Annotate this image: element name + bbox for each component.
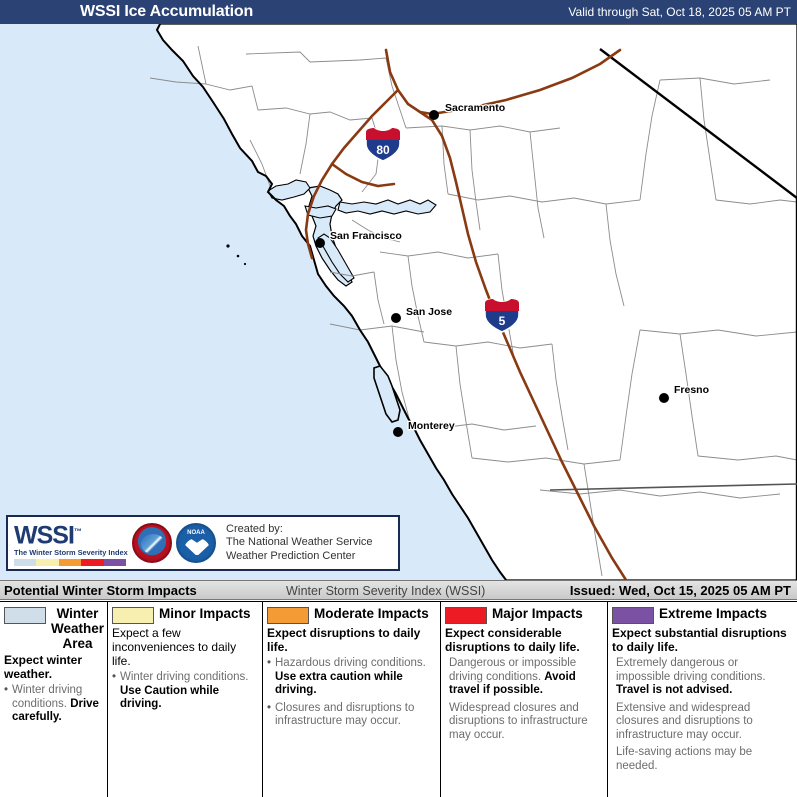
city-dot-sacramento [429,110,439,120]
credit-line-2: The National Weather Service [226,536,373,550]
legend-lead-text: Expect substantial disruptions to daily … [612,626,792,654]
legend-detail-item: Closures and disruptions to infrastructu… [267,702,435,729]
legend-title: Major Impacts [492,606,583,621]
credit-line-3: Weather Prediction Center [226,550,373,564]
page-title: WSSI Ice Accumulation [80,3,253,21]
legend-swatch [112,607,154,624]
legend-detail-item: Winter driving conditions. Drive careful… [4,684,102,725]
city-dot-san-jose [391,313,401,323]
legend-column-minor-impacts: Minor ImpactsExpect a few inconveniences… [108,602,263,797]
wssi-subtitle: The Winter Storm Severity Index [14,548,128,557]
city-label-sacramento: Sacramento [445,102,505,114]
valid-through-text: Valid through Sat, Oct 18, 2025 05 AM PT [568,5,791,19]
impacts-title-bar: Potential Winter Storm Impacts Winter St… [0,580,797,600]
city-dot-monterey [393,427,403,437]
legend-column-extreme-impacts: Extreme ImpactsExpect substantial disrup… [608,602,797,797]
noaa-seal-icon: NOAA [176,523,216,563]
impacts-heading: Potential Winter Storm Impacts [4,583,197,598]
legend-title: Moderate Impacts [314,606,429,621]
issued-text: Issued: Wed, Oct 15, 2025 05 AM PT [570,583,791,598]
legend-header: Extreme Impacts [612,606,792,624]
legend-detail-item: Extremely dangerous or impossible drivin… [612,657,792,698]
legend-header: Winter Weather Area [4,606,102,651]
legend-lead-text: Expect a few inconveniences to daily lif… [112,626,257,668]
shield-route-80: 80 [376,143,390,157]
legend-detail-list: Extremely dangerous or impossible drivin… [612,657,792,773]
legend-detail-item: Widespread closures and disruptions to i… [445,702,602,743]
legend-lead-text: Expect disruptions to daily life. [267,626,435,654]
legend-swatch [445,607,487,624]
city-label-fresno: Fresno [674,384,709,396]
legend-detail-list: Winter driving conditions. Drive careful… [4,684,102,725]
island-dot [244,263,246,265]
legend-title: Winter Weather Area [51,606,104,651]
shield-route-5: 5 [499,314,506,328]
legend-column-moderate-impacts: Moderate ImpactsExpect disruptions to da… [263,602,441,797]
legend-column-major-impacts: Major ImpactsExpect considerable disrupt… [441,602,608,797]
legend-swatch [267,607,309,624]
city-label-san-jose: San Jose [406,306,452,318]
wssi-wordmark: WSSI™ [14,520,128,547]
legend-column-winter-weather-area: Winter Weather AreaExpect winter weather… [0,602,108,797]
wssi-logo: WSSI™ The Winter Storm Severity Index [8,520,128,565]
wssi-color-ramp [14,559,126,566]
legend-detail-item: Life-saving actions may be needed. [612,746,792,773]
island-dot [226,244,229,247]
legend-detail-list: Hazardous driving conditions. Use extra … [267,657,435,729]
legend-detail-item: Dangerous or impossible driving conditio… [445,657,602,698]
legend-header: Minor Impacts [112,606,257,624]
impact-legend: Winter Weather AreaExpect winter weather… [0,601,797,797]
legend-detail-item: Winter driving conditions. Use Caution w… [112,671,257,712]
trademark-symbol: ™ [74,527,81,536]
legend-swatch [4,607,46,624]
city-label-monterey: Monterey [408,420,455,432]
legend-title: Minor Impacts [159,606,251,621]
wssi-logo-box: WSSI™ The Winter Storm Severity Index NO… [6,515,400,571]
legend-detail-list: Dangerous or impossible driving conditio… [445,657,602,742]
legend-header: Major Impacts [445,606,602,624]
city-dot-fresno [659,393,669,403]
city-label-san-francisco: San Francisco [330,230,402,242]
legend-detail-item: Extensive and widespread closures and di… [612,702,792,743]
wssi-ice-accumulation-page: WSSI Ice Accumulation Valid through Sat,… [0,0,797,797]
page-header: WSSI Ice Accumulation Valid through Sat,… [0,0,797,24]
legend-detail-item: Hazardous driving conditions. Use extra … [267,657,435,698]
city-dot-san-francisco [315,238,325,248]
legend-lead-text: Expect winter weather. [4,653,102,681]
legend-header: Moderate Impacts [267,606,435,624]
nws-seal-icon [132,523,172,563]
legend-detail-list: Winter driving conditions. Use Caution w… [112,671,257,712]
noaa-seal-text: NOAA [178,530,214,536]
legend-lead-text: Expect considerable disruptions to daily… [445,626,602,654]
island-dot [237,255,240,258]
credit-line-1: Created by: [226,523,373,537]
creator-credit: Created by: The National Weather Service… [226,523,373,564]
map-graphic: Sacramento San Francisco San Jose Monter… [0,24,797,580]
map-canvas[interactable]: Sacramento San Francisco San Jose Monter… [0,24,797,580]
legend-title: Extreme Impacts [659,606,767,621]
wssi-full-name: Winter Storm Severity Index (WSSI) [286,584,485,598]
legend-swatch [612,607,654,624]
